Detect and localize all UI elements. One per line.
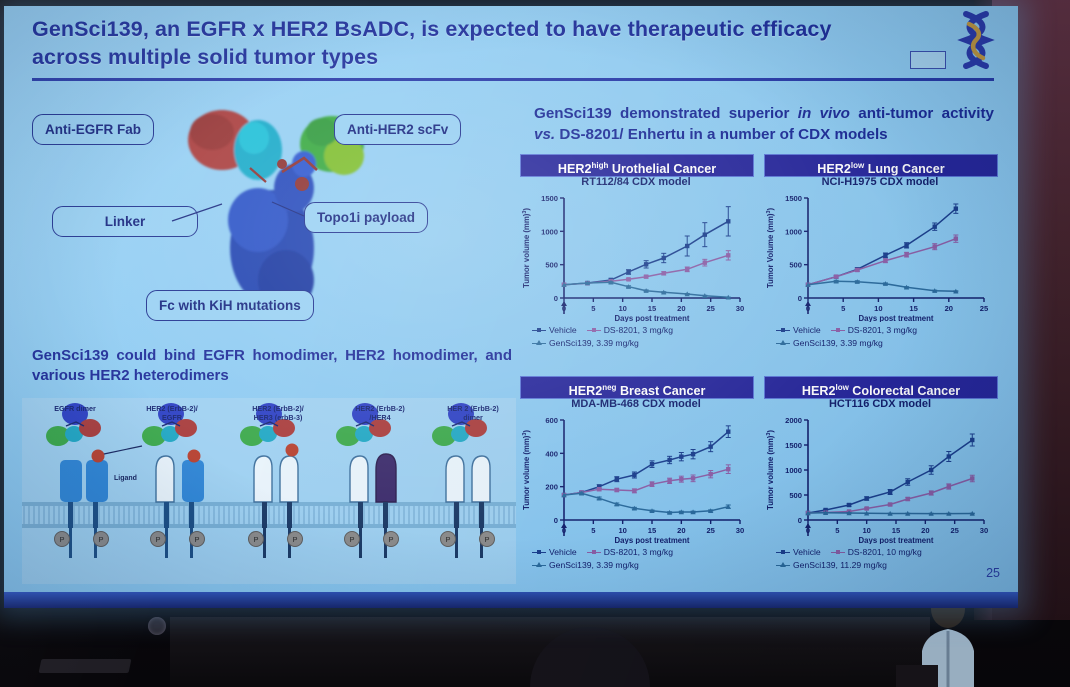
legend-marker-icon [532,549,546,556]
svg-text:10: 10 [618,304,626,313]
plot-area: 050010001500051015202530Days post treatm… [520,190,752,322]
svg-text:Days post treatment: Days post treatment [615,536,690,544]
legend-label: Vehicle [549,324,577,337]
svg-text:5: 5 [841,304,846,313]
svg-text:25: 25 [980,304,989,313]
legend-marker-icon [587,549,601,556]
svg-text:25: 25 [706,304,715,313]
legend-marker-icon [776,562,790,569]
chart-title: HER2neg Breast Cancer [520,376,754,399]
svg-text:P: P [349,535,354,544]
legend-label: GenSci139, 11.29 mg/kg [793,559,887,572]
svg-text:P: P [292,535,297,544]
svg-text:5: 5 [591,304,596,313]
svg-text:10: 10 [874,304,882,313]
chart-plot: 0200400600051015202530Days post treatmen… [520,412,752,544]
svg-text:10: 10 [618,526,626,535]
svg-text:400: 400 [545,449,558,458]
svg-text:1000: 1000 [785,227,802,236]
legend-item: DS-8201, 10 mg/kg [831,546,922,559]
corner-badge [910,51,946,69]
legend-marker-icon [776,340,790,347]
legend-label: GenSci139, 3.39 mg/kg [549,337,639,350]
svg-text:1000: 1000 [541,227,558,236]
laptop [39,659,132,673]
legend-item: GenSci139, 11.29 mg/kg [776,559,887,572]
legend-label: DS-8201, 10 mg/kg [848,546,922,559]
legend-label: DS-8201, 3 mg/kg [848,324,917,337]
ligand-label: Ligand [114,475,137,482]
conference-photo: GenSci139, an EGFR x HER2 BsADC, is expe… [0,0,1070,687]
plot-area: 0500100015000510152025Days post treatmen… [764,190,996,322]
title-underline [32,78,994,81]
svg-text:1500: 1500 [785,441,802,450]
svg-text:P: P [253,535,258,544]
svg-text:30: 30 [736,304,744,313]
legend-label: Vehicle [793,324,821,337]
plot-area: 0500100015002000051015202530Days post tr… [764,412,996,544]
legend-item: GenSci139, 3.39 mg/kg [532,337,639,350]
chart-subtitle: RT112/84 CDX model [520,176,752,188]
legend-marker-icon [831,549,845,556]
legend-item: GenSci139, 3.39 mg/kg [776,337,883,350]
legend-item: Vehicle [776,324,821,337]
legend-marker-icon [532,327,546,334]
svg-text:Tumor volume (mm)3): Tumor volume (mm)3) [522,208,531,288]
dimer-label-egfr-dimer: EGFR dimer [32,404,118,413]
chart-card-lung: HER2low Lung CancerNCI-H1975 CDX model05… [764,154,996,366]
slide-title: GenSci139, an EGFR x HER2 BsADC, is expe… [32,16,892,72]
svg-text:500: 500 [789,261,802,270]
legend-item: Vehicle [532,324,577,337]
dimer-label-her2-her4: HER2 (ErbB-2) /HER4 [334,404,426,422]
svg-text:15: 15 [892,526,901,535]
svg-text:25: 25 [706,526,715,535]
callout-linker[interactable]: Linker [52,206,198,237]
legend-item: DS-8201, 3 mg/kg [831,324,917,337]
svg-text:20: 20 [677,304,685,313]
callout-anti-egfr-fab[interactable]: Anti-EGFR Fab [32,114,154,145]
chart-legend: VehicleDS-8201, 3 mg/kgGenSci139, 3.39 m… [532,546,752,572]
legend-item: GenSci139, 3.39 mg/kg [532,559,639,572]
legend-item: Vehicle [776,546,821,559]
presentation-slide: GenSci139, an EGFR x HER2 BsADC, is expe… [4,6,1018,592]
callout-topo1i-payload[interactable]: Topo1i payload [304,202,428,233]
svg-text:Days post treatment: Days post treatment [615,314,690,322]
chart-legend: VehicleDS-8201, 10 mg/kgGenSci139, 11.29… [776,546,996,572]
svg-text:30: 30 [736,526,744,535]
svg-text:P: P [59,535,64,544]
svg-text:1000: 1000 [785,466,802,475]
legend-marker-icon [587,327,601,334]
legend-marker-icon [532,562,546,569]
svg-text:P: P [445,535,450,544]
svg-text:Tumor Volume (mm)3): Tumor Volume (mm)3) [766,207,775,288]
svg-text:2000: 2000 [785,416,802,425]
chart-title: HER2low Colorectal Cancer [764,376,998,399]
svg-text:0: 0 [798,516,802,525]
svg-text:0: 0 [554,516,558,525]
svg-text:20: 20 [677,526,685,535]
svg-text:1500: 1500 [785,194,802,203]
legend-marker-icon [831,327,845,334]
receptor-dimer-panel: PPPPPPPPPP Ligand [22,398,516,584]
chart-card-colorectal: HER2low Colorectal CancerHCT116 CDX mode… [764,376,996,588]
chart-title: HER2high Urothelial Cancer [520,154,754,177]
receptor-dimer-diagram: PPPPPPPPPP [22,398,516,584]
screen-bottom-band [4,592,1018,608]
callout-fc-kih-mutations[interactable]: Fc with KiH mutations [146,290,314,321]
dimer-label-her2-her3: HER2 (ErbB-2)/ HER3 (erbB-3) [226,404,330,422]
chart-plot: 0500100015002000051015202530Days post tr… [764,412,996,544]
svg-text:20: 20 [945,304,953,313]
chart-plot: 0500100015000510152025Days post treatmen… [764,190,996,322]
svg-text:30: 30 [980,526,988,535]
svg-text:P: P [194,535,199,544]
svg-text:Tumor volume (mm)3): Tumor volume (mm)3) [522,430,531,510]
svg-text:200: 200 [545,483,558,492]
chart-legend: VehicleDS-8201, 3 mg/kgGenSci139, 3.39 m… [532,324,752,350]
legend-label: GenSci139, 3.39 mg/kg [549,559,639,572]
legend-label: DS-8201, 3 mg/kg [604,546,673,559]
chart-card-urothelial: HER2high Urothelial CancerRT112/84 CDX m… [520,154,752,366]
legend-label: GenSci139, 3.39 mg/kg [793,337,883,350]
right-heading: GenSci139 demonstrated superior in vivo … [534,104,994,146]
svg-text:0: 0 [554,294,558,303]
svg-text:0: 0 [798,294,802,303]
svg-text:P: P [155,535,160,544]
legend-item: DS-8201, 3 mg/kg [587,324,673,337]
legend-marker-icon [532,340,546,347]
svg-text:15: 15 [648,304,657,313]
svg-text:1500: 1500 [541,194,558,203]
svg-text:P: P [388,535,393,544]
svg-text:Days post treatment: Days post treatment [859,536,934,544]
svg-text:Tumor volume (mm)3): Tumor volume (mm)3) [766,430,775,510]
stage-knob [148,617,166,635]
dimer-label-her2-egfr: HER2 (ErbB-2)/ EGFR [126,404,218,422]
chart-plot: 050010001500051015202530Days post treatm… [520,190,752,322]
legend-marker-icon [776,549,790,556]
legend-marker-icon [776,327,790,334]
svg-text:P: P [484,535,489,544]
svg-text:15: 15 [909,304,918,313]
chart-subtitle: MDA-MB-468 CDX model [520,398,752,410]
chart-title: HER2low Lung Cancer [764,154,998,177]
chart-subtitle: HCT116 CDX model [764,398,996,410]
svg-text:Days post treatment: Days post treatment [859,314,934,322]
svg-text:10: 10 [862,526,870,535]
svg-text:600: 600 [545,416,558,425]
legend-item: Vehicle [532,546,577,559]
legend-label: Vehicle [793,546,821,559]
left-subheading: GenSci139 could bind EGFR homodimer, HER… [32,346,512,387]
slide-number: 25 [986,566,1000,580]
svg-text:500: 500 [545,261,558,270]
svg-text:25: 25 [950,526,959,535]
legend-item: DS-8201, 3 mg/kg [587,546,673,559]
chart-card-breast: HER2neg Breast CancerMDA-MB-468 CDX mode… [520,376,752,588]
chart-subtitle: NCI-H1975 CDX model [764,176,996,188]
plot-area: 0200400600051015202530Days post treatmen… [520,412,752,544]
svg-text:5: 5 [835,526,840,535]
legend-label: Vehicle [549,546,577,559]
svg-text:20: 20 [921,526,929,535]
right-heading-text: GenSci139 demonstrated superior in vivo … [534,105,994,143]
svg-text:5: 5 [591,526,596,535]
svg-text:P: P [98,535,103,544]
projection-screen: GenSci139, an EGFR x HER2 BsADC, is expe… [4,6,1018,608]
dimer-label-her2-dimer: HER 2 (ErbB-2) dimer [428,404,518,422]
legend-label: DS-8201, 3 mg/kg [604,324,673,337]
chart-legend: VehicleDS-8201, 3 mg/kgGenSci139, 3.39 m… [776,324,996,350]
svg-text:500: 500 [789,491,802,500]
svg-text:15: 15 [648,526,657,535]
callout-anti-her2-scfv[interactable]: Anti-HER2 scFv [334,114,461,145]
dna-helix-logo [956,10,996,74]
